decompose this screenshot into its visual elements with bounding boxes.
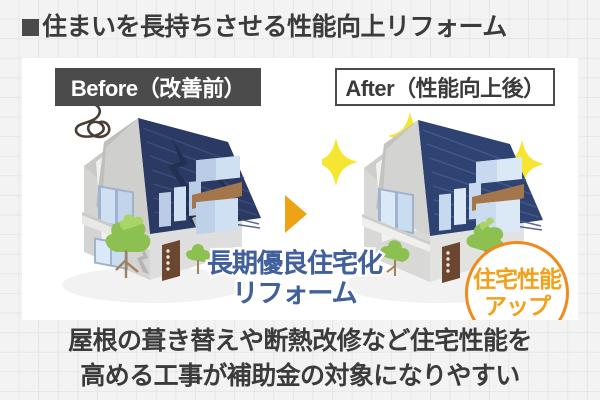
summary-text: 屋根の葺き替えや断熱改修など住宅性能を 高める工事が補助金の対象になりやすい [0, 324, 600, 394]
sparkle-icon [322, 138, 358, 186]
label-before: Before（改善前） [55, 68, 261, 106]
caption-reform: 長期優良住宅化 リフォーム [187, 248, 402, 308]
badge-line-1: 住宅性能 [473, 266, 561, 293]
label-after-text: After（性能向上後） [345, 71, 544, 103]
comparison-card: Before（改善前） After（性能向上後） 長期優良住宅化 リフォーム 長… [22, 58, 578, 320]
bullet-square-icon [22, 19, 39, 36]
label-before-text: Before（改善前） [71, 71, 245, 103]
page-title-text: 住まいを長持ちさせる性能向上リフォーム [42, 13, 507, 41]
label-after: After（性能向上後） [335, 68, 555, 106]
page-title: 住まいを長持ちさせる性能向上リフォーム [22, 9, 507, 45]
page-root: 住まいを長持ちさせる性能向上リフォーム [0, 0, 600, 400]
arrow-right-icon [285, 195, 307, 233]
badge-line-2: アップ [484, 293, 550, 320]
